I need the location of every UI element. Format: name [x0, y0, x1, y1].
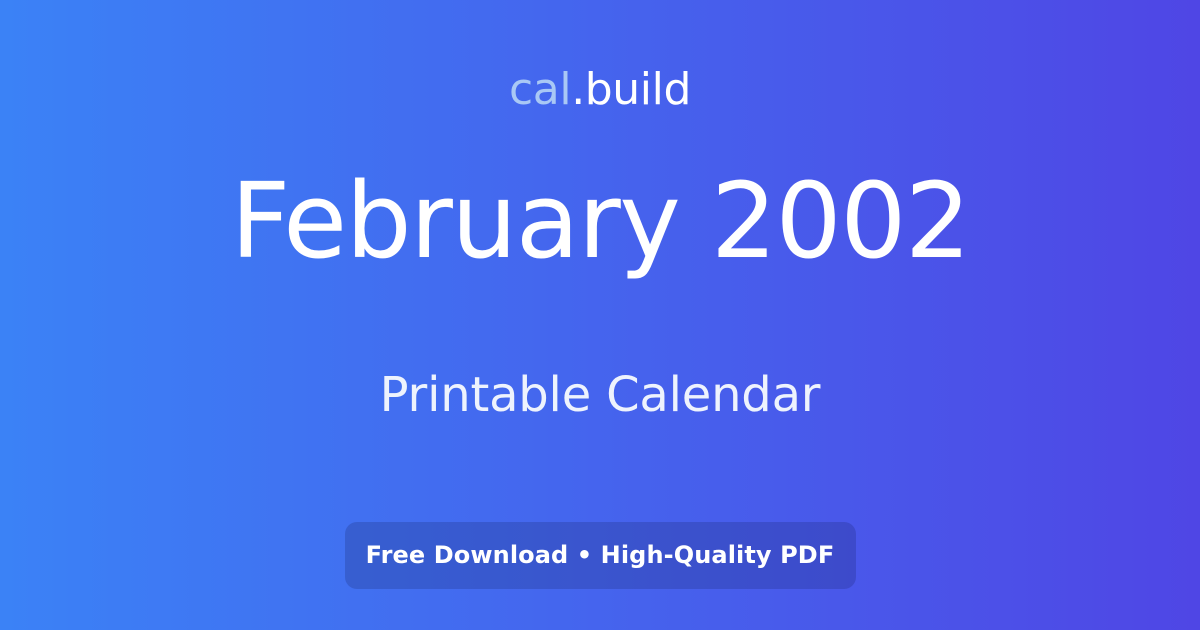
download-badge[interactable]: Free Download • High-Quality PDF: [345, 522, 856, 589]
page-subtitle: Printable Calendar: [380, 370, 821, 420]
brand-logo-suffix: .build: [571, 64, 691, 115]
og-preview-card: cal.build February 2002 Printable Calend…: [0, 0, 1200, 630]
download-badge-label: Free Download • High-Quality PDF: [366, 541, 835, 569]
brand-logo[interactable]: cal.build: [509, 68, 691, 112]
brand-logo-primary: cal: [509, 64, 571, 115]
page-title: February 2002: [230, 168, 969, 274]
